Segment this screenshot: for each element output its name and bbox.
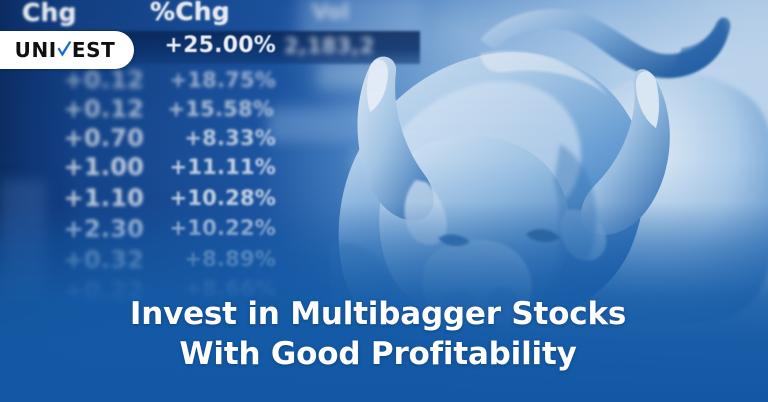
logo-wordmark: UNI EST [15, 40, 116, 60]
check-mark-icon [57, 41, 72, 59]
logo-text-prefix: UNI [15, 40, 57, 60]
headline-line-2: With Good Profitability [0, 334, 756, 374]
promo-banner: Chg %Chg Vol +25.00% 2,183,2 +0.12 +18.7… [0, 0, 768, 402]
univest-logo[interactable]: UNI EST [0, 31, 134, 69]
logo-text-suffix: EST [72, 40, 116, 60]
headline-block: Invest in Multibagger Stocks With Good P… [0, 294, 768, 374]
headline-line-1: Invest in Multibagger Stocks [0, 294, 756, 334]
